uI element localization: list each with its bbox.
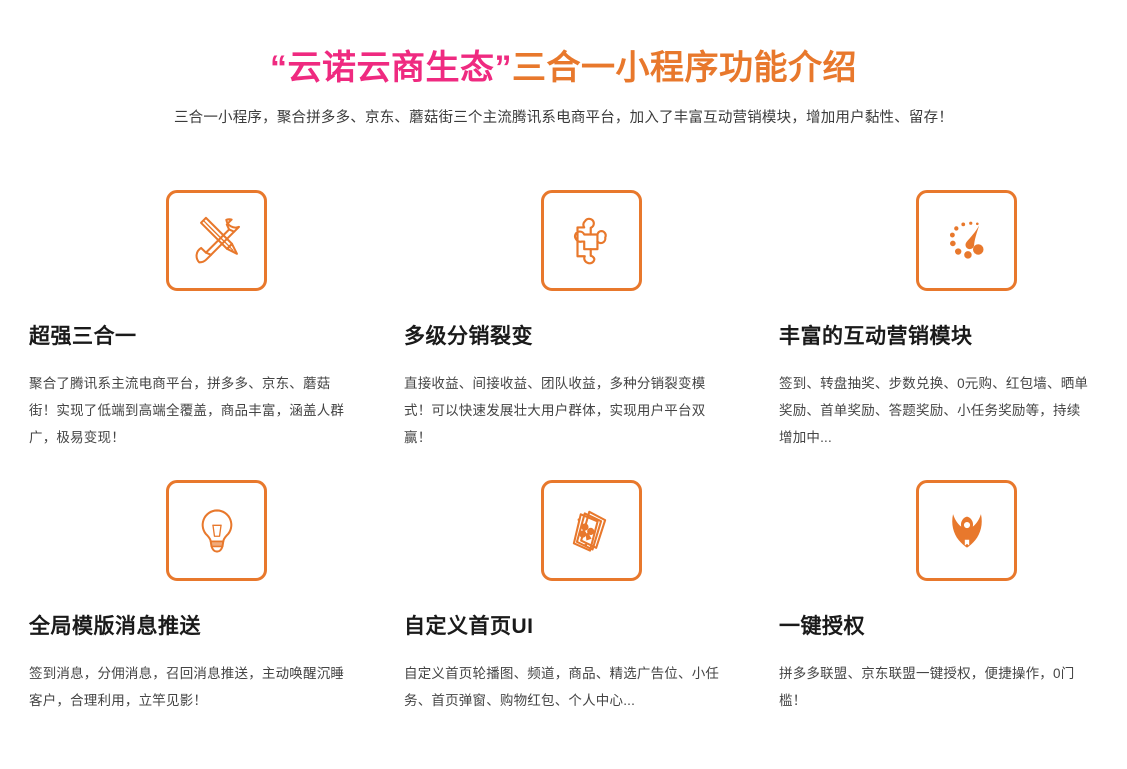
feature-title: 超强三合一 bbox=[29, 323, 351, 351]
feature-description: 聚合了腾讯系主流电商平台，拼多多、京东、蘑菇街！实现了低端到高端全覆盖，商品丰富… bbox=[29, 370, 351, 451]
feature-icon-box bbox=[916, 190, 1017, 291]
feature-title: 全局模版消息推送 bbox=[29, 613, 351, 641]
playing-cards-icon bbox=[563, 502, 621, 560]
feature-description: 签到消息，分佣消息，召回消息推送，主动唤醒沉睡客户，合理利用，立竿见影！ bbox=[29, 660, 351, 714]
feature-title: 自定义首页UI bbox=[404, 613, 726, 641]
feature-card: 多级分销裂变 直接收益、间接收益、团队收益，多种分销裂变模式！可以快速发展壮大用… bbox=[375, 190, 750, 480]
feature-intro-page: “云诺云商生态”三合一小程序功能介绍 三合一小程序，聚合拼多多、京东、蘑菇街三个… bbox=[0, 0, 1127, 769]
feature-icon-box bbox=[541, 480, 642, 581]
page-title-highlight: “云诺云商生态” bbox=[270, 49, 512, 87]
page-title-rest: 三合一小程序功能介绍 bbox=[512, 49, 857, 87]
feature-title: 丰富的互动营销模块 bbox=[779, 323, 1103, 351]
feature-card: 全局模版消息推送 签到消息，分佣消息，召回消息推送，主动唤醒沉睡客户，合理利用，… bbox=[0, 480, 375, 769]
page-subtitle: 三合一小程序，聚合拼多多、京东、蘑菇街三个主流腾讯系电商平台，加入了丰富互动营销… bbox=[0, 107, 1127, 129]
feature-description: 自定义首页轮播图、频道，商品、精选广告位、小任务、首页弹窗、购物红包、个人中心.… bbox=[404, 660, 726, 714]
feature-icon-box bbox=[541, 190, 642, 291]
feature-icon-box bbox=[916, 480, 1017, 581]
feature-description: 直接收益、间接收益、团队收益，多种分销裂变模式！可以快速发展壮大用户群体，实现用… bbox=[404, 370, 726, 451]
feature-icon-box bbox=[166, 190, 267, 291]
lightbulb-icon bbox=[189, 503, 245, 559]
page-title: “云诺云商生态”三合一小程序功能介绍 bbox=[0, 46, 1127, 90]
lucky-wheel-icon bbox=[937, 211, 997, 271]
feature-card: 超强三合一 聚合了腾讯系主流电商平台，拼多多、京东、蘑菇街！实现了低端到高端全覆… bbox=[0, 190, 375, 480]
feature-title: 多级分销裂变 bbox=[404, 323, 726, 351]
feature-card: 一键授权 拼多多联盟、京东联盟一键授权，便捷操作，0门槛！ bbox=[750, 480, 1127, 769]
wrench-pencil-icon bbox=[186, 210, 248, 272]
puzzle-piece-icon bbox=[563, 212, 621, 270]
feature-card: 自定义首页UI 自定义首页轮播图、频道，商品、精选广告位、小任务、首页弹窗、购物… bbox=[375, 480, 750, 769]
feature-description: 签到、转盘抽奖、步数兑换、0元购、红包墙、晒单奖励、首单奖励、答题奖励、小任务奖… bbox=[779, 370, 1089, 451]
feature-card: 丰富的互动营销模块 签到、转盘抽奖、步数兑换、0元购、红包墙、晒单奖励、首单奖励… bbox=[750, 190, 1127, 480]
feature-grid: 超强三合一 聚合了腾讯系主流电商平台，拼多多、京东、蘑菇街！实现了低端到高端全覆… bbox=[0, 190, 1127, 769]
feature-title: 一键授权 bbox=[779, 613, 1103, 641]
feature-icon-box bbox=[166, 480, 267, 581]
page-header: “云诺云商生态”三合一小程序功能介绍 三合一小程序，聚合拼多多、京东、蘑菇街三个… bbox=[0, 0, 1127, 129]
feature-description: 拼多多联盟、京东联盟一键授权，便捷操作，0门槛！ bbox=[779, 660, 1089, 714]
key-authorize-icon bbox=[938, 502, 996, 560]
